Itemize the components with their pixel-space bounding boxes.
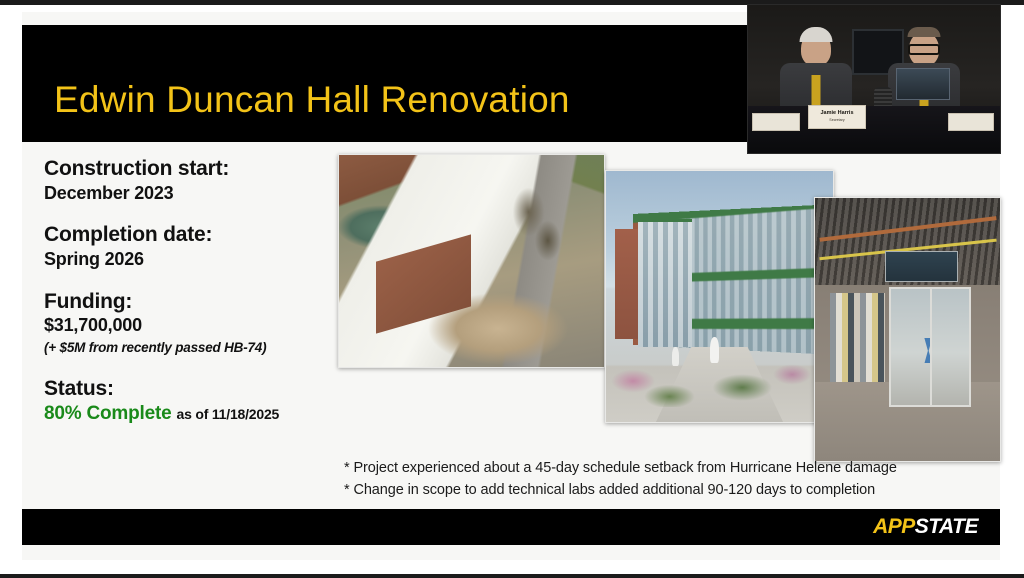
page-title: Edwin Duncan Hall Renovation [54, 81, 570, 118]
video-laptop [896, 68, 950, 100]
architectural-rendering [605, 170, 834, 423]
status-line: 80% Completeas of 11/18/2025 [44, 403, 344, 425]
video-nameplate-blank [948, 113, 994, 131]
rendering-person-figure [710, 337, 719, 363]
rendering-person-figure [672, 347, 679, 366]
construction-start-label: Construction start: [44, 157, 344, 182]
construction-start-value: December 2023 [44, 182, 344, 205]
footnote-item: * Project experienced about a 45-day sch… [344, 457, 984, 479]
rendering-landscaping [606, 342, 833, 407]
glasses-icon [908, 44, 940, 55]
aerial-brick-wing [376, 235, 471, 334]
rendering-image [606, 171, 833, 422]
logo-state-text: STATE [915, 515, 978, 538]
funding-block: Funding: $31,700,000 (+ $5M from recentl… [44, 290, 344, 355]
aerial-trees [503, 168, 567, 278]
logo-app-text: APP [873, 515, 915, 538]
footer-band: APPSTATE [22, 509, 1000, 545]
video-nameplate-name: Jamie Harris [809, 111, 865, 117]
speaker-video-feed[interactable]: Jamie Harris Secretary [748, 5, 1000, 153]
video-person-hair [908, 27, 941, 37]
interior-glass-doors [889, 287, 971, 407]
frame-strip-bottom [0, 574, 1024, 578]
video-nameplate-title: Secretary [809, 119, 865, 123]
completion-date-value: Spring 2026 [44, 248, 344, 271]
funding-label: Funding: [44, 290, 344, 315]
interior-corridor-photo [814, 197, 1001, 462]
aerial-photo-image [339, 155, 604, 367]
title-band: Edwin Duncan Hall Renovation [22, 25, 748, 142]
footnotes: * Project experienced about a 45-day sch… [344, 457, 984, 502]
interior-photo-image [815, 198, 1000, 461]
project-info-column: Construction start: December 2023 Comple… [44, 157, 344, 444]
completion-date-label: Completion date: [44, 223, 344, 248]
status-as-of: as of 11/18/2025 [176, 406, 279, 422]
appstate-logo: APPSTATE [873, 516, 978, 537]
footnote-item: * Change in scope to add technical labs … [344, 479, 984, 501]
video-nameplate: Jamie Harris Secretary [808, 105, 866, 129]
video-person-tie [812, 75, 821, 109]
rendering-brick-wall [615, 229, 640, 339]
completion-date-block: Completion date: Spring 2026 [44, 223, 344, 270]
video-person-left [780, 32, 852, 115]
interior-scissor-lift [924, 338, 932, 363]
construction-start-block: Construction start: December 2023 [44, 157, 344, 204]
funding-note: (+ $5M from recently passed HB-74) [44, 340, 344, 355]
aerial-construction-photo [338, 154, 605, 368]
rendering-atrium-glass [638, 219, 692, 348]
status-label: Status: [44, 377, 344, 402]
funding-value: $31,700,000 [44, 314, 344, 337]
status-badge: 80% Complete [44, 403, 171, 424]
screen: Edwin Duncan Hall Renovation Constructio… [0, 0, 1024, 578]
status-block: Status: 80% Completeas of 11/18/2025 [44, 377, 344, 425]
video-nameplate-blank [752, 113, 800, 131]
interior-duct [885, 251, 957, 282]
video-person-head [909, 32, 939, 66]
interior-tile-wall [830, 293, 886, 382]
